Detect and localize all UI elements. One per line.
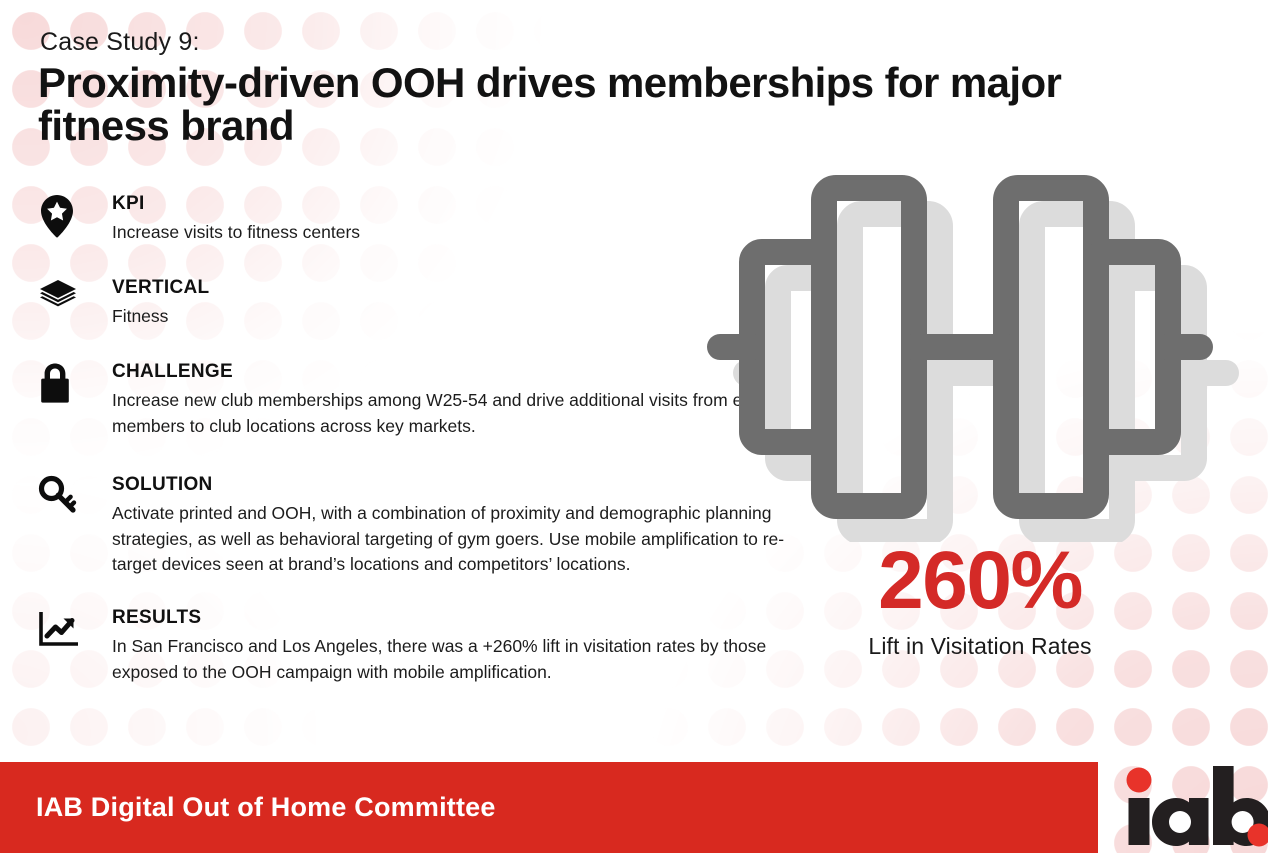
page-title: Proximity-driven OOH drives memberships … [38, 62, 1128, 148]
dumbbell-icon [690, 162, 1250, 542]
case-study-eyebrow: Case Study 9: [40, 29, 200, 57]
stat-caption: Lift in Visitation Rates [700, 634, 1260, 659]
stat-value: 260% [700, 540, 1260, 622]
stat-block: 260% Lift in Visitation Rates [700, 540, 1260, 659]
map-pin-star-icon [38, 194, 98, 240]
footer-title: IAB Digital Out of Home Committee [36, 793, 496, 823]
layers-icon [38, 278, 98, 324]
lock-icon [38, 362, 98, 408]
trend-chart-icon [38, 610, 98, 656]
iab-logo [1118, 764, 1268, 850]
case-study-infographic: Case Study 9: Proximity-driven OOH drive… [0, 0, 1280, 853]
key-icon [38, 475, 98, 521]
